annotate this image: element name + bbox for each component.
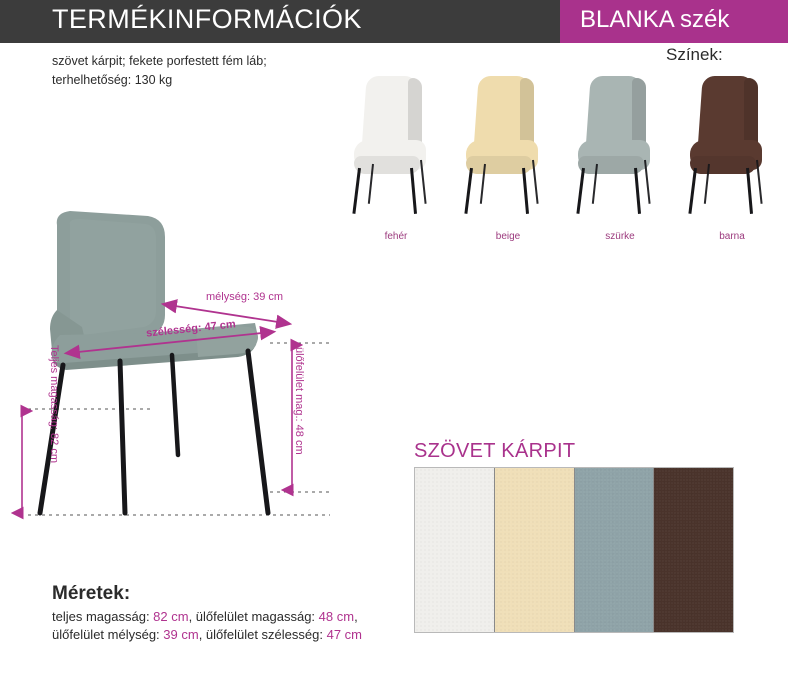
chair-backrest-inner	[70, 219, 156, 336]
fabric-swatch-feher	[415, 468, 495, 632]
measurements-title: Méretek:	[52, 583, 452, 605]
fabric-swatch-beige	[495, 468, 575, 632]
chair-leg-back-right	[172, 355, 178, 455]
chair-illustration-beige	[462, 76, 554, 216]
measurements-line-1: teljes magasság: 82 cm, ülőfelület magas…	[52, 608, 452, 626]
page-title: TERMÉKINFORMÁCIÓK	[52, 4, 362, 35]
chair-leg-back-left	[120, 361, 125, 513]
measure-seat-height-value: 48 cm	[319, 609, 354, 624]
fabric-swatch-strip	[414, 467, 734, 633]
chair-leg	[464, 168, 472, 214]
fabric-swatch-barna	[654, 468, 733, 632]
color-label-feher: fehér	[340, 231, 452, 242]
chair-leg	[576, 168, 584, 214]
color-variant-barna: barna	[676, 72, 788, 242]
color-variant-szurke: szürke	[564, 72, 676, 242]
colors-heading: Színek:	[666, 45, 723, 65]
chair-legs	[40, 351, 268, 513]
chair-leg-front-right	[248, 351, 268, 513]
chair-leg	[410, 168, 417, 214]
chair-leg	[746, 168, 753, 214]
color-variant-feher: fehér	[340, 72, 452, 242]
chair-illustration-barna	[686, 76, 778, 216]
color-variants-row: fehér beige	[340, 72, 788, 242]
description-line-1: szövet kárpit; fekete porfestett fém láb…	[52, 52, 392, 71]
measurements-block: Méretek: teljes magasság: 82 cm, ülőfelü…	[52, 583, 452, 644]
measure-depth-value: 39 cm	[163, 627, 198, 642]
color-variant-beige: beige	[452, 72, 564, 242]
chair-leg	[522, 168, 529, 214]
fabric-section-title: SZÖVET KÁRPIT	[414, 440, 575, 463]
chair-leg	[688, 168, 696, 214]
dimension-diagram: mélység: 39 cm szélesség: 47 cm Teljes m…	[0, 195, 340, 535]
chair-leg	[634, 168, 641, 214]
color-label-beige: beige	[452, 231, 564, 242]
label-seat-height: ülőfelület mag.: 48 cm	[293, 347, 305, 455]
chair-illustration-feher	[350, 76, 442, 216]
chair-illustration-szurke	[574, 76, 666, 216]
product-name: BLANKA szék	[580, 6, 729, 34]
measure-seat-height-label: , ülőfelület magasság:	[189, 609, 319, 624]
measure-total-height-label: teljes magasság:	[52, 609, 153, 624]
chair-leg	[352, 168, 360, 214]
product-info-sheet: TERMÉKINFORMÁCIÓK BLANKA szék szövet kár…	[0, 0, 788, 680]
measure-total-height-value: 82 cm	[153, 609, 188, 624]
measure-depth-label: ülőfelület mélység:	[52, 627, 163, 642]
measurements-line-2: ülőfelület mélység: 39 cm, ülőfelület sz…	[52, 626, 452, 644]
measure-width-value: 47 cm	[327, 627, 362, 642]
label-total-height: Teljes magasság: 82 cm	[48, 345, 60, 463]
measure-width-label: , ülőfelület szélesség:	[199, 627, 327, 642]
measure-line1-tail: ,	[354, 609, 358, 624]
color-label-barna: barna	[676, 231, 788, 242]
page-header: TERMÉKINFORMÁCIÓK BLANKA szék	[0, 0, 788, 43]
fabric-swatch-szurke	[575, 468, 655, 632]
color-label-szurke: szürke	[564, 231, 676, 242]
label-depth: mélység: 39 cm	[206, 291, 283, 303]
